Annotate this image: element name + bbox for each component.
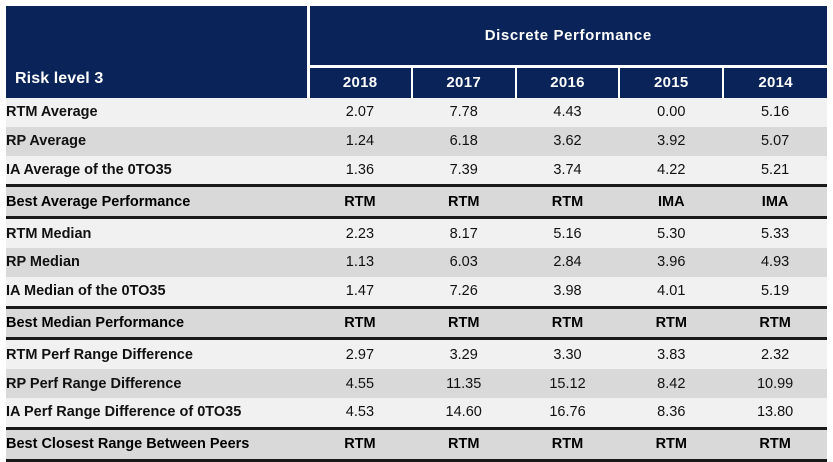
- cell-value: 4.01: [619, 277, 723, 307]
- cell-value: 11.35: [412, 369, 516, 398]
- table-row: IA Average of the 0TO351.367.393.744.225…: [6, 156, 827, 186]
- cell-value: 1.36: [308, 156, 412, 186]
- cell-value: 8.42: [619, 369, 723, 398]
- cell-value: RTM: [412, 186, 516, 218]
- table-row: RP Median1.136.032.843.964.93: [6, 248, 827, 277]
- row-label: RTM Perf Range Difference: [6, 339, 308, 369]
- table-row: RTM Average2.077.784.430.005.16: [6, 98, 827, 127]
- cell-value: 4.55: [308, 369, 412, 398]
- cell-value: 3.29: [412, 339, 516, 369]
- row-label: IA Median of the 0TO35: [6, 277, 308, 307]
- cell-value: 5.30: [619, 218, 723, 248]
- discrete-performance-group-header: Discrete Performance: [308, 6, 827, 66]
- cell-value: 13.80: [723, 398, 827, 428]
- table-row: IA Perf Range Difference of 0TO354.5314.…: [6, 398, 827, 428]
- cell-value: 5.21: [723, 156, 827, 186]
- cell-value: RTM: [308, 428, 412, 460]
- row-label: RTM Average: [6, 98, 308, 127]
- column-header-year-2018: 2018: [308, 66, 412, 98]
- cell-value: 6.03: [412, 248, 516, 277]
- cell-value: RTM: [619, 428, 723, 460]
- row-label: RP Median: [6, 248, 308, 277]
- cell-value: RTM: [412, 428, 516, 460]
- cell-value: RTM: [308, 307, 412, 339]
- cell-value: 8.36: [619, 398, 723, 428]
- table-body: RTM Average2.077.784.430.005.16RP Averag…: [6, 98, 827, 460]
- cell-value: 4.43: [516, 98, 620, 127]
- table-summary-row: Best Average PerformanceRTMRTMRTMIMAIMA: [6, 186, 827, 218]
- cell-value: 5.16: [516, 218, 620, 248]
- cell-value: 7.26: [412, 277, 516, 307]
- row-label: RP Perf Range Difference: [6, 369, 308, 398]
- cell-value: 3.92: [619, 127, 723, 156]
- cell-value: 2.07: [308, 98, 412, 127]
- cell-value: 7.78: [412, 98, 516, 127]
- cell-value: 8.17: [412, 218, 516, 248]
- cell-value: IMA: [619, 186, 723, 218]
- cell-value: 1.13: [308, 248, 412, 277]
- cell-value: 14.60: [412, 398, 516, 428]
- row-label: IA Average of the 0TO35: [6, 156, 308, 186]
- cell-value: RTM: [723, 307, 827, 339]
- cell-value: 1.47: [308, 277, 412, 307]
- cell-value: RTM: [516, 307, 620, 339]
- cell-value: 3.96: [619, 248, 723, 277]
- cell-value: 3.62: [516, 127, 620, 156]
- cell-value: 3.74: [516, 156, 620, 186]
- header-row-group: Risk level 3 Discrete Performance: [6, 6, 827, 66]
- row-label: RTM Median: [6, 218, 308, 248]
- table-row: RP Perf Range Difference4.5511.3515.128.…: [6, 369, 827, 398]
- column-header-year-2016: 2016: [516, 66, 620, 98]
- column-header-year-2017: 2017: [412, 66, 516, 98]
- table-summary-row: Best Median PerformanceRTMRTMRTMRTMRTM: [6, 307, 827, 339]
- cell-value: 2.97: [308, 339, 412, 369]
- table-row: RTM Median2.238.175.165.305.33: [6, 218, 827, 248]
- table-row: IA Median of the 0TO351.477.263.984.015.…: [6, 277, 827, 307]
- cell-value: RTM: [308, 186, 412, 218]
- column-header-year-2014: 2014: [723, 66, 827, 98]
- cell-value: 5.16: [723, 98, 827, 127]
- cell-value: 7.39: [412, 156, 516, 186]
- performance-table-container: Risk level 3 Discrete Performance 2018 2…: [0, 0, 833, 438]
- row-label: Best Median Performance: [6, 307, 308, 339]
- cell-value: RTM: [516, 428, 620, 460]
- cell-value: RTM: [619, 307, 723, 339]
- cell-value: 4.22: [619, 156, 723, 186]
- cell-value: 4.53: [308, 398, 412, 428]
- cell-value: 2.32: [723, 339, 827, 369]
- cell-value: 0.00: [619, 98, 723, 127]
- risk-level-title: Risk level 3: [6, 6, 308, 98]
- cell-value: 4.93: [723, 248, 827, 277]
- cell-value: 16.76: [516, 398, 620, 428]
- risk-level-performance-table: Risk level 3 Discrete Performance 2018 2…: [6, 6, 827, 462]
- cell-value: IMA: [723, 186, 827, 218]
- cell-value: 5.19: [723, 277, 827, 307]
- table-summary-row: Best Closest Range Between PeersRTMRTMRT…: [6, 428, 827, 460]
- row-label: Best Average Performance: [6, 186, 308, 218]
- cell-value: 3.98: [516, 277, 620, 307]
- cell-value: RTM: [412, 307, 516, 339]
- cell-value: 2.84: [516, 248, 620, 277]
- table-row: RP Average1.246.183.623.925.07: [6, 127, 827, 156]
- cell-value: RTM: [723, 428, 827, 460]
- row-label: IA Perf Range Difference of 0TO35: [6, 398, 308, 428]
- table-row: RTM Perf Range Difference2.973.293.303.8…: [6, 339, 827, 369]
- cell-value: 3.30: [516, 339, 620, 369]
- cell-value: 10.99: [723, 369, 827, 398]
- cell-value: 6.18: [412, 127, 516, 156]
- row-label: RP Average: [6, 127, 308, 156]
- cell-value: 1.24: [308, 127, 412, 156]
- cell-value: 5.33: [723, 218, 827, 248]
- cell-value: RTM: [516, 186, 620, 218]
- column-header-year-2015: 2015: [619, 66, 723, 98]
- cell-value: 5.07: [723, 127, 827, 156]
- row-label: Best Closest Range Between Peers: [6, 428, 308, 460]
- table-header: Risk level 3 Discrete Performance 2018 2…: [6, 6, 827, 98]
- cell-value: 15.12: [516, 369, 620, 398]
- cell-value: 2.23: [308, 218, 412, 248]
- cell-value: 3.83: [619, 339, 723, 369]
